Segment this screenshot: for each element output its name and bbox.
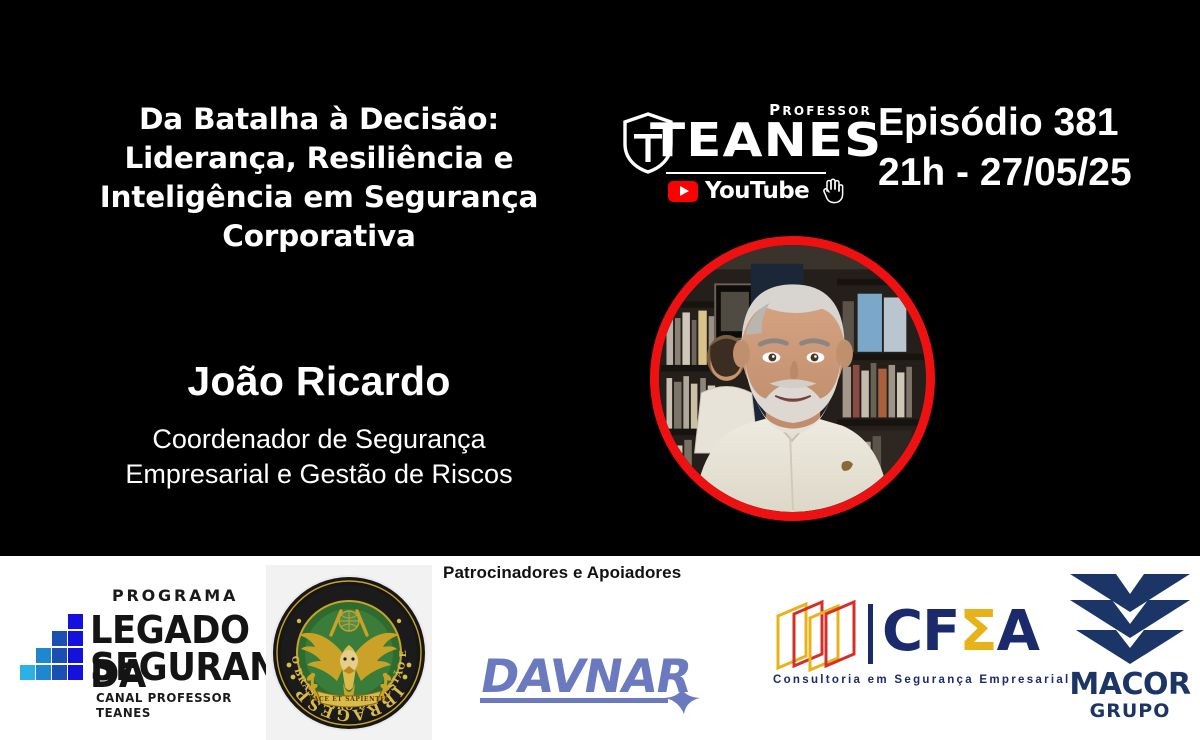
speaker-portrait	[650, 236, 935, 521]
davnar-wordmark-icon: DAVNAR	[478, 648, 708, 718]
episode-promo-card: Da Batalha à Decisão: Liderança, Resiliê…	[0, 0, 1200, 740]
stair-blocks-icon	[20, 612, 84, 692]
episode-info: Episódio 381 21h - 27/05/25	[878, 98, 1188, 198]
cfea-name-part-2: A	[997, 599, 1039, 664]
hero-section: Da Batalha à Decisão: Liderança, Resiliê…	[0, 0, 1200, 556]
cfea-name-part-1: CF	[882, 599, 959, 664]
episode-number: Episódio 381	[878, 98, 1188, 148]
macor-name: MACOR	[1068, 667, 1192, 702]
speaker-role-line-1: Coordenador de Segurança	[34, 422, 604, 457]
sponsor-logo-cfea[interactable]: CFΣA Consultoria em Segurança Empresaria…	[772, 598, 1057, 708]
youtube-badge[interactable]: YouTube	[668, 178, 845, 204]
episode-time-date: 21h - 27/05/25	[878, 148, 1188, 198]
talk-title-line-4: Corporativa	[34, 217, 604, 256]
talk-title: Da Batalha à Decisão: Liderança, Resiliê…	[34, 100, 604, 256]
cfea-divider-bar	[868, 604, 873, 664]
davnar-text: DAVNAR	[478, 649, 696, 703]
speaker-role: Coordenador de Segurança Empresarial e G…	[34, 422, 604, 492]
legado-programa-label: PROGRAMA	[112, 586, 238, 605]
brand-name-label: TEANES	[650, 114, 882, 166]
sponsors-title: Patrocinadores e Apoiadores	[443, 563, 681, 583]
talk-title-line-2: Liderança, Resiliência e	[34, 139, 604, 178]
speaker-name: João Ricardo	[34, 356, 604, 406]
sponsor-logo-davnar[interactable]: DAVNAR	[478, 648, 708, 718]
sponsors-footer: Patrocinadores e Apoiadores PROGRAMA LEG…	[0, 556, 1200, 740]
speaker-role-line-2: Empresarial e Gestão de Riscos	[34, 457, 604, 492]
youtube-label: YouTube	[705, 178, 809, 204]
speaker-block: João Ricardo Coordenador de Segurança Em…	[34, 356, 604, 492]
speaker-photo	[659, 245, 926, 512]
hand-pointer-icon	[819, 176, 845, 204]
cfea-wordmark: CFΣA	[882, 601, 1039, 663]
sponsor-logo-legado-da-seguranca[interactable]: PROGRAMA LEGADO DA SEGURANÇA CANAL PROFE…	[14, 586, 264, 731]
cfea-tagline: Consultoria em Segurança Empresarial	[773, 674, 1071, 686]
youtube-play-icon	[668, 181, 698, 202]
brand-logo[interactable]: Professor TEANES YouTube	[622, 96, 874, 196]
sponsor-logo-ibragesp[interactable]: IBRAGESP INSTITUTO BRASILEIRO DE GESTÃO …	[266, 565, 432, 740]
legado-tagline: CANAL PROFESSOR TEANES	[96, 690, 254, 720]
talk-title-line-1: Da Batalha à Decisão:	[34, 100, 604, 139]
macor-sub-label: GRUPO	[1068, 700, 1192, 722]
ibragesp-seal-icon: IBRAGESP INSTITUTO BRASILEIRO DE GESTÃO …	[269, 573, 429, 733]
svg-text:PACE ET SAPIENTIA: PACE ET SAPIENTIA	[309, 696, 389, 703]
cfea-sigma-glyph: Σ	[959, 599, 996, 664]
macor-chevrons-icon	[1068, 572, 1192, 664]
brand-divider-rule	[666, 172, 826, 174]
talk-title-line-3: Inteligência em Segurança	[34, 178, 604, 217]
sponsor-logo-macor[interactable]: MACOR GRUPO	[1068, 572, 1192, 732]
cfea-layers-icon	[772, 600, 864, 676]
